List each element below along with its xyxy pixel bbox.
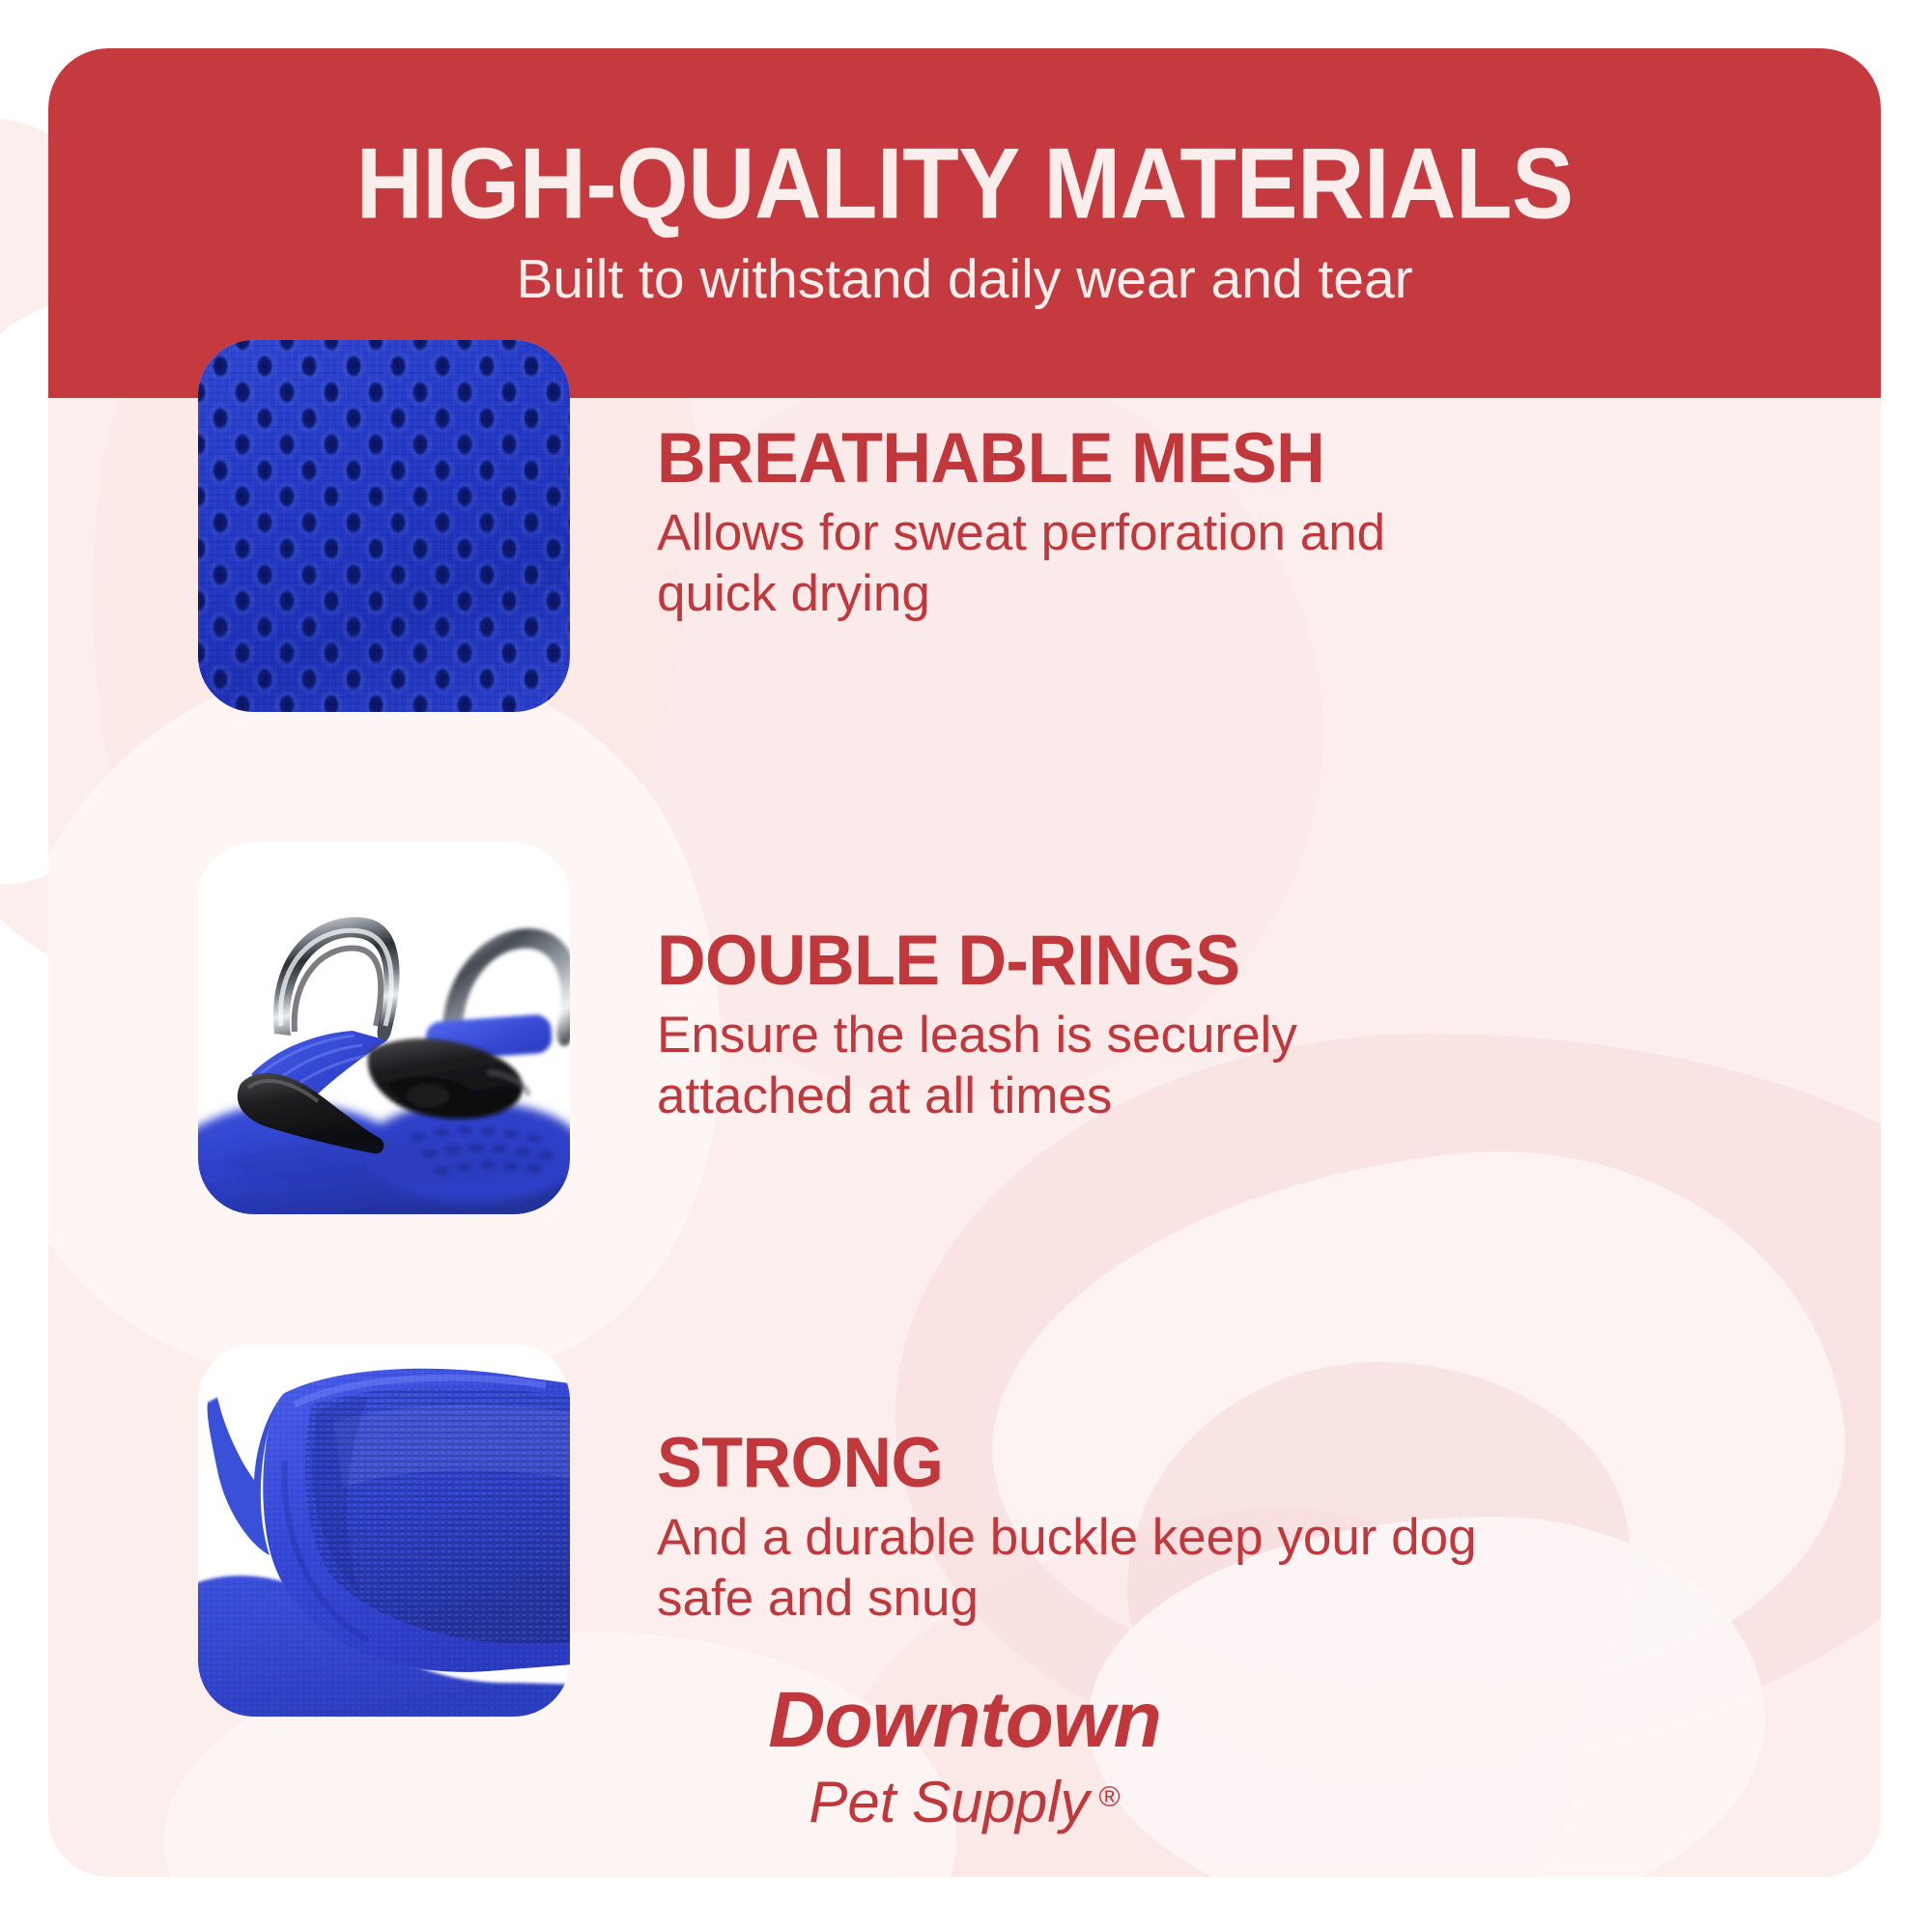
feature-item-double-d-rings: DOUBLE D-RINGS Ensure the leash is secur…	[198, 842, 1744, 1214]
feature-item-strong: STRONG And a durable buckle keep your do…	[198, 1345, 1744, 1717]
page-subtitle: Built to withstand daily wear and tear	[516, 249, 1412, 310]
feature-text-block: BREATHABLE MESH Allows for sweat perfora…	[570, 422, 1488, 630]
double-d-rings-thumbnail	[198, 842, 570, 1214]
strong-buckle-thumbnail	[198, 1345, 570, 1717]
brand-logo-line2: Pet Supply	[809, 1770, 1089, 1834]
feature-description: And a durable buckle keep your dog safe …	[657, 1508, 1488, 1629]
padded-harness-image	[198, 1345, 570, 1717]
mesh-texture-image	[198, 340, 570, 712]
feature-text-block: DOUBLE D-RINGS Ensure the leash is secur…	[570, 924, 1488, 1132]
feature-text-block: STRONG And a durable buckle keep your do…	[570, 1427, 1488, 1634]
d-rings-illustration	[198, 842, 570, 1214]
feature-title: STRONG	[657, 1427, 1488, 1498]
feature-item-breathable-mesh: BREATHABLE MESH Allows for sweat perfora…	[198, 340, 1744, 712]
padded-harness-illustration	[198, 1345, 570, 1717]
feature-description: Ensure the leash is securely attached at…	[657, 1006, 1488, 1126]
d-rings-image	[198, 842, 570, 1214]
breathable-mesh-thumbnail	[198, 340, 570, 712]
brand-logo-line1: Downtown	[48, 1681, 1881, 1760]
page-title: HIGH-QUALITY MATERIALS	[355, 132, 1573, 238]
brand-logo-line2-wrap: Pet Supply®	[48, 1774, 1881, 1832]
registered-trademark-icon: ®	[1099, 1781, 1121, 1813]
feature-description: Allows for sweat perforation and quick d…	[657, 503, 1488, 624]
infographic-canvas: HIGH-QUALITY MATERIALS Built to withstan…	[0, 0, 1932, 1932]
feature-title: DOUBLE D-RINGS	[657, 924, 1488, 996]
brand-logo: Downtown Pet Supply®	[48, 1681, 1881, 1832]
infographic-card: HIGH-QUALITY MATERIALS Built to withstan…	[48, 48, 1881, 1877]
feature-title: BREATHABLE MESH	[657, 422, 1488, 494]
